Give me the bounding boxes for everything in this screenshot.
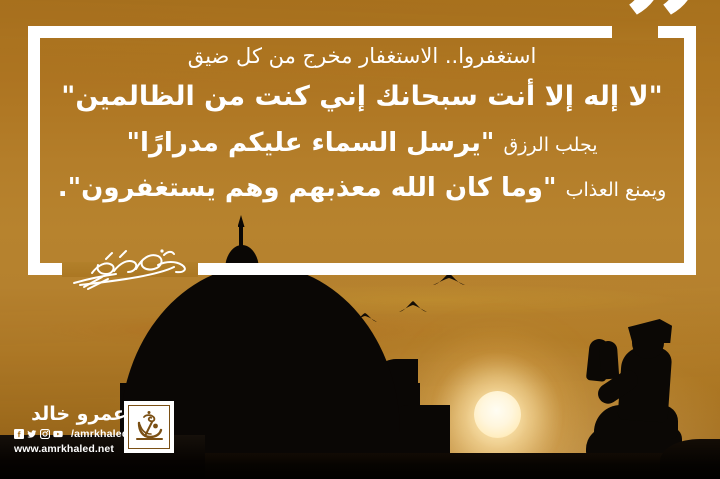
twitter-icon[interactable] bbox=[27, 429, 37, 439]
brand-website[interactable]: www.amrkhaled.net bbox=[14, 443, 114, 455]
youtube-icon[interactable] bbox=[53, 429, 63, 439]
social-links[interactable]: /amrkhaled bbox=[14, 428, 128, 440]
brand-name: عمرو خالد bbox=[31, 403, 126, 425]
brand-handle[interactable]: /amrkhaled bbox=[71, 428, 128, 440]
quote-line-4-quoted: "وما كان الله معذبهم وهم يستغفرون". bbox=[58, 173, 557, 203]
branding-block: عمرو خالد /amrkhaled www.amrkhaled.net bbox=[14, 403, 178, 465]
quote-line-4: ويمنع العذاب "وما كان الله معذبهم وهم يس… bbox=[40, 173, 684, 204]
quote-line-3-lead: يجلب الرزق bbox=[504, 134, 598, 156]
praying-person-silhouette bbox=[580, 319, 688, 455]
calligraphy-signature bbox=[62, 243, 202, 291]
quote-line-3-quoted: "يرسل السماء عليكم مدرارًا" bbox=[126, 128, 494, 158]
facebook-icon[interactable] bbox=[14, 429, 24, 439]
instagram-icon[interactable] bbox=[40, 429, 50, 439]
setting-sun bbox=[474, 391, 521, 438]
quote-line-1: استغفروا.. الاستغفار مخرج من كل ضيق bbox=[40, 44, 684, 69]
quote-line-3: يجلب الرزق "يرسل السماء عليكم مدرارًا" bbox=[40, 128, 684, 159]
quote-text-block: استغفروا.. الاستغفار مخرج من كل ضيق "لا … bbox=[40, 44, 684, 259]
quote-line-4-lead: ويمنع العذاب bbox=[566, 179, 667, 201]
brand-logo-mark bbox=[128, 405, 170, 449]
quote-line-2: "لا إله إلا أنت سبحانك إني كنت من الظالم… bbox=[40, 81, 684, 113]
poster: ” استغفروا.. الاستغفار مخرج من كل ضيق "ل… bbox=[0, 0, 720, 479]
arabic-calligraphy-logo-icon bbox=[132, 409, 166, 445]
brand-logo bbox=[124, 401, 174, 453]
